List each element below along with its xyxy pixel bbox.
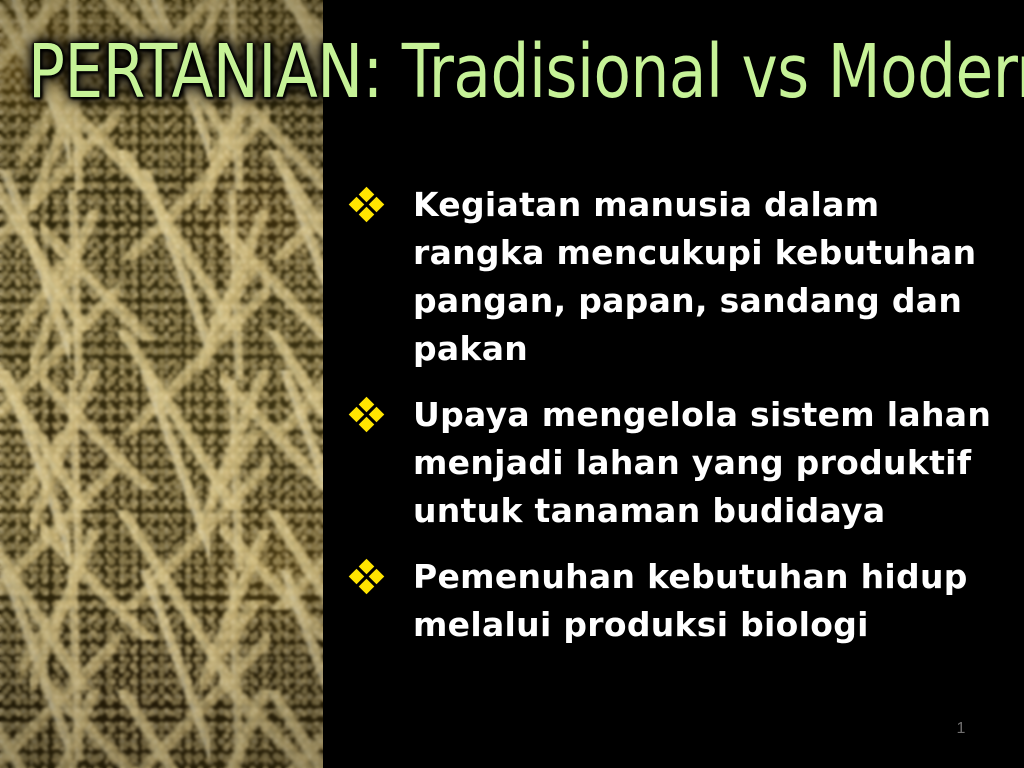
page-number: 1: [946, 720, 976, 738]
bullet-text: Upaya mengelola sistem lahan menjadi lah…: [388, 391, 998, 535]
list-item: Kegiatan manusia dalam rangka mencukupi …: [348, 181, 998, 373]
bullet-text: Kegiatan manusia dalam rangka mencukupi …: [388, 181, 998, 373]
presentation-slide: PERTANIAN: Tradisional vs Modern Kegiata…: [0, 0, 1024, 768]
diamond-cluster-bullet-icon: [348, 395, 388, 439]
bullet-list: Kegiatan manusia dalam rangka mencukupi …: [348, 181, 998, 667]
diamond-cluster-bullet-icon: [348, 185, 388, 229]
slide-title: PERTANIAN: Tradisional vs Modern: [28, 24, 930, 120]
list-item: Upaya mengelola sistem lahan menjadi lah…: [348, 391, 998, 535]
bullet-text: Pemenuhan kebutuhan hidup melalui produk…: [388, 553, 998, 649]
diamond-cluster-bullet-icon: [348, 557, 388, 601]
list-item: Pemenuhan kebutuhan hidup melalui produk…: [348, 553, 998, 649]
